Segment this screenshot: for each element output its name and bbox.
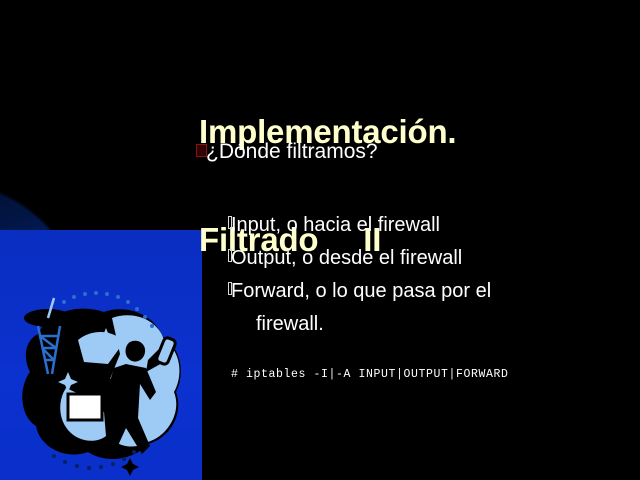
bar-bullet-icon: [228, 249, 232, 262]
list-item-label-continuation: firewall.: [228, 308, 558, 341]
presentation-slide: Implementación. Filtrado II ¿Dónde filtr…: [0, 0, 640, 480]
bullet-list: Input, o hacia el firewall Output, o des…: [228, 209, 558, 341]
clipart-businessman-illustration: [8, 288, 198, 480]
bar-bullet-icon: [228, 216, 232, 229]
clipart-briefcase: [68, 394, 102, 420]
list-item-label: Output, o desde el firewall: [228, 242, 558, 275]
command-line-text: # iptables -I|-A INPUT|OUTPUT|FORWARD: [231, 368, 509, 381]
question-line: ¿Dónde filtramos?: [196, 139, 616, 165]
list-item-label: Forward, o lo que pasa por el: [228, 275, 558, 308]
bar-bullet-icon: [228, 282, 232, 295]
list-item-label: Input, o hacia el firewall: [228, 209, 558, 242]
list-item: Output, o desde el firewall: [228, 242, 558, 275]
list-item: Input, o hacia el firewall: [228, 209, 558, 242]
list-item: Forward, o lo que pasa por el firewall.: [228, 275, 558, 341]
question-text: ¿Dónde filtramos?: [206, 139, 378, 165]
